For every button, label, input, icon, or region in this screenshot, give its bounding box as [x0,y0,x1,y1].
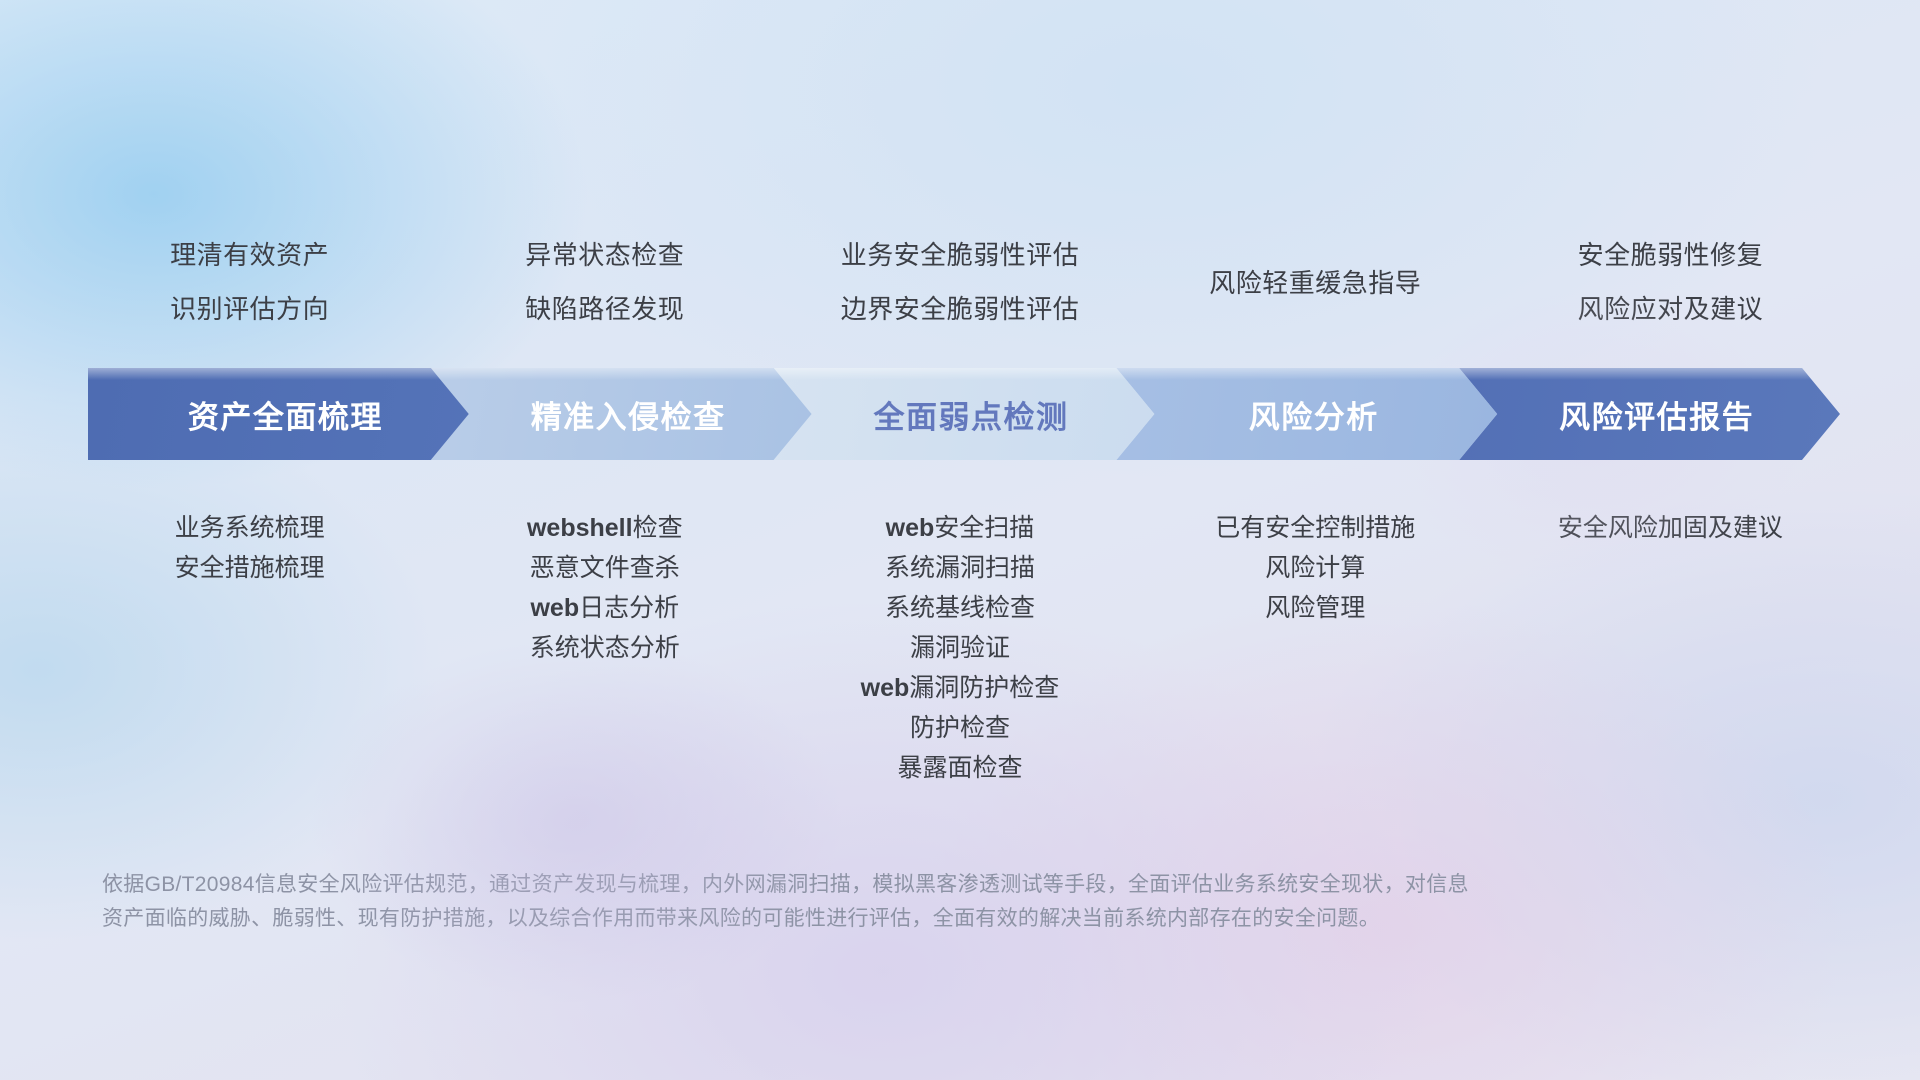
detail-item: web日志分析 [427,588,782,628]
lower-column-2: webshell检查恶意文件查杀web日志分析系统状态分析 [427,508,782,674]
detail-item: 安全风险加固及建议 [1493,508,1848,548]
chevron-gloss [774,368,1155,380]
upper-caption: 风险应对及建议 [1493,282,1848,336]
chevron-gloss [88,368,469,380]
detail-item: 暴露面检查 [782,748,1137,788]
footer-line-2: 资产面临的威胁、脆弱性、现有防护措施，以及综合作用而带来风险的可能性进行评估，全… [102,902,1622,936]
upper-column-4: 风险轻重缓急指导 [1138,228,1493,310]
upper-column-5: 安全脆弱性修复风险应对及建议 [1493,228,1848,336]
slide-canvas: 理清有效资产识别评估方向异常状态检查缺陷路径发现业务安全脆弱性评估边界安全脆弱性… [0,0,1920,1080]
chevron-gloss [1116,368,1497,380]
chevron-stage-label: 全面弱点检测 [859,392,1068,437]
lower-column-4: 已有安全控制措施风险计算风险管理 [1138,508,1493,634]
upper-caption: 安全脆弱性修复 [1493,228,1848,282]
detail-item: 系统基线检查 [782,588,1137,628]
detail-item: 系统状态分析 [427,628,782,668]
chevron-stage-2[interactable]: 精准入侵检查 [431,368,812,460]
upper-caption: 边界安全脆弱性评估 [782,282,1137,336]
lower-column-1: 业务系统梳理安全措施梳理 [72,508,427,594]
lower-column-5: 安全风险加固及建议 [1493,508,1848,554]
detail-item: web安全扫描 [782,508,1137,548]
chevron-stage-label: 精准入侵检查 [517,392,726,437]
upper-caption: 业务安全脆弱性评估 [782,228,1137,282]
detail-item: 安全措施梳理 [72,548,427,588]
lower-column-3: web安全扫描系统漏洞扫描系统基线检查漏洞验证web漏洞防护检查防护检查暴露面检… [782,508,1137,794]
detail-item: webshell检查 [427,508,782,548]
upper-caption: 风险轻重缓急指导 [1138,256,1493,310]
detail-item: 风险管理 [1138,588,1493,628]
upper-column-1: 理清有效资产识别评估方向 [72,228,427,336]
chevron-gloss [1459,368,1840,380]
chevron-stage-label: 风险分析 [1235,392,1379,437]
detail-item: 系统漏洞扫描 [782,548,1137,588]
detail-item: 风险计算 [1138,548,1493,588]
upper-caption: 理清有效资产 [72,228,427,282]
detail-item: 业务系统梳理 [72,508,427,548]
upper-caption: 异常状态检查 [427,228,782,282]
chevron-gloss [431,368,812,380]
upper-caption: 缺陷路径发现 [427,282,782,336]
chevron-stage-5[interactable]: 风险评估报告 [1459,368,1840,460]
detail-item: 已有安全控制措施 [1138,508,1493,548]
chevron-stage-3[interactable]: 全面弱点检测 [774,368,1155,460]
footer-line-1: 依据GB/T20984信息安全风险评估规范，通过资产发现与梳理，内外网漏洞扫描，… [102,868,1622,902]
process-chevron-band: 资产全面梳理精准入侵检查全面弱点检测风险分析风险评估报告 [88,368,1840,460]
chevron-stage-1[interactable]: 资产全面梳理 [88,368,469,460]
chevron-stage-4[interactable]: 风险分析 [1116,368,1497,460]
upper-column-2: 异常状态检查缺陷路径发现 [427,228,782,336]
upper-column-3: 业务安全脆弱性评估边界安全脆弱性评估 [782,228,1137,336]
chevron-stage-label: 资产全面梳理 [174,392,383,437]
detail-item: 恶意文件查杀 [427,548,782,588]
upper-caption: 识别评估方向 [72,282,427,336]
footer-description: 依据GB/T20984信息安全风险评估规范，通过资产发现与梳理，内外网漏洞扫描，… [102,868,1622,936]
detail-item: web漏洞防护检查 [782,668,1137,708]
detail-item: 漏洞验证 [782,628,1137,668]
upper-caption-row: 理清有效资产识别评估方向异常状态检查缺陷路径发现业务安全脆弱性评估边界安全脆弱性… [72,228,1848,336]
detail-item: 防护检查 [782,708,1137,748]
chevron-stage-label: 风险评估报告 [1545,392,1754,437]
lower-detail-row: 业务系统梳理安全措施梳理webshell检查恶意文件查杀web日志分析系统状态分… [72,508,1848,794]
